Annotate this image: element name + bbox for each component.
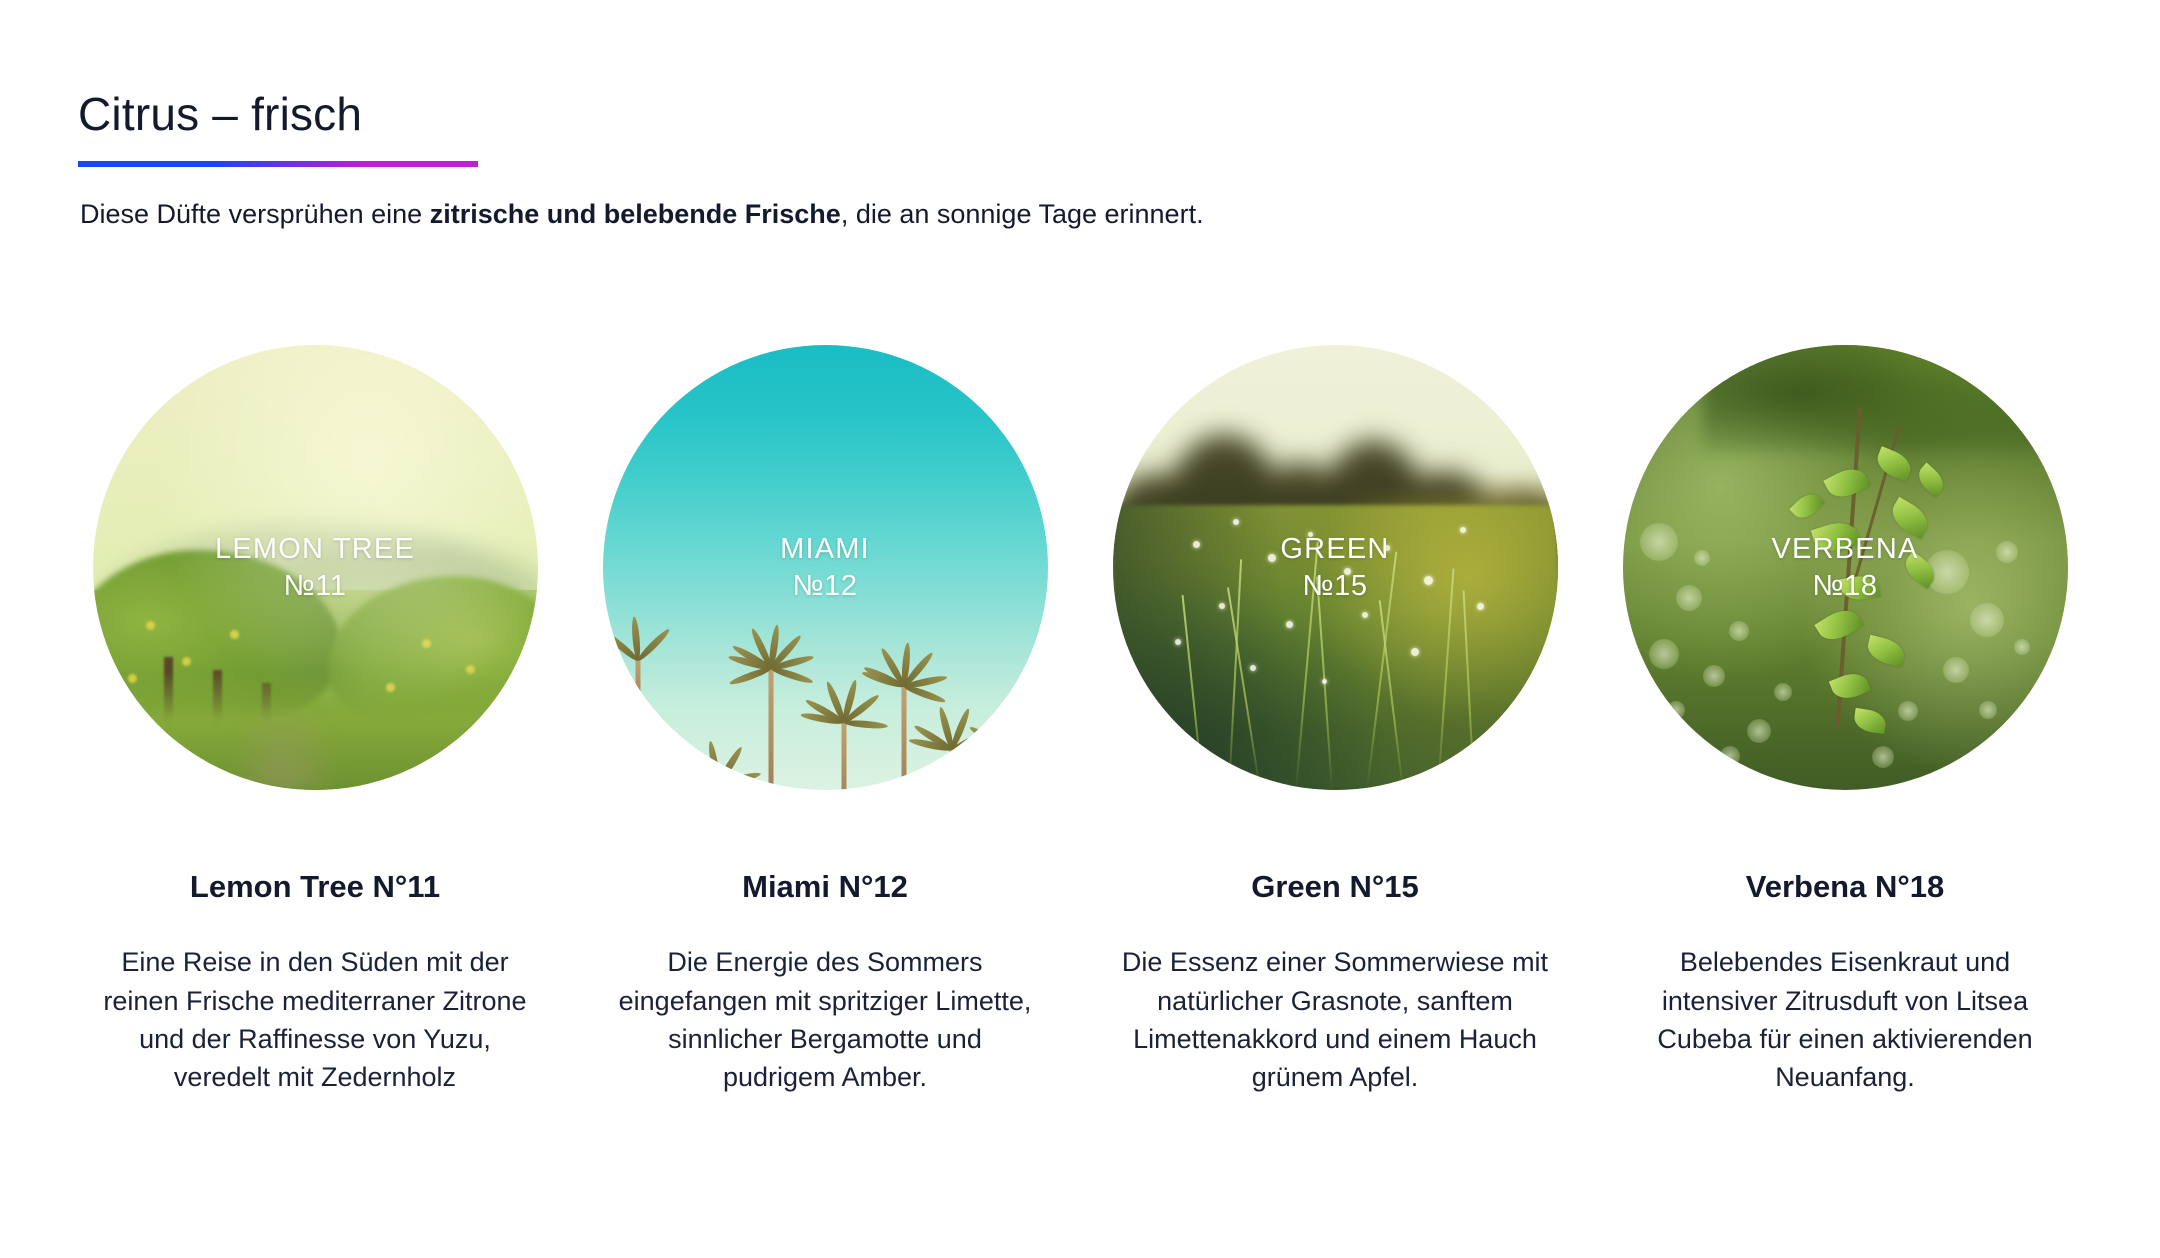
subtitle-text-bold: zitrische und belebende Frische: [430, 199, 841, 229]
product-name-miami: Miami N°12: [742, 868, 908, 905]
page-subtitle: Diese Düfte versprühen eine zitrische un…: [80, 196, 1204, 234]
overlay-number: №12: [603, 568, 1048, 605]
subtitle-text-after: , die an sonnige Tage erinnert.: [841, 199, 1204, 229]
product-description-green: Die Essenz einer Sommerwiese mit natürli…: [1120, 943, 1550, 1096]
product-description-verbena: Belebendes Eisenkraut und intensiver Zit…: [1630, 943, 2060, 1096]
product-name-verbena: Verbena N°18: [1746, 868, 1945, 905]
overlay-name: MIAMI: [780, 532, 870, 564]
product-name-green: Green N°15: [1251, 868, 1418, 905]
fragrance-card-lemon-tree[interactable]: LEMON TREE №11 Lemon Tree N°11 Eine Reis…: [60, 345, 570, 1097]
fragrance-card-green[interactable]: GREEN №15 Green N°15 Die Essenz einer So…: [1080, 345, 1590, 1097]
overlay-name: LEMON TREE: [215, 532, 415, 564]
overlay-number: №11: [93, 568, 538, 605]
page-header: Citrus – frisch: [78, 88, 478, 167]
title-gradient-rule: [78, 161, 478, 167]
subtitle-text-before: Diese Düfte versprühen eine: [80, 199, 430, 229]
fragrance-category-page: Citrus – frisch Diese Düfte versprühen e…: [0, 0, 2160, 1258]
product-name-lemon-tree: Lemon Tree N°11: [190, 868, 440, 905]
fragrance-image-green[interactable]: GREEN №15: [1113, 345, 1558, 790]
overlay-name: VERBENA: [1772, 532, 1919, 564]
fragrance-overlay-label-verbena: VERBENA №18: [1623, 530, 2068, 604]
product-description-miami: Die Energie des Sommers eingefangen mit …: [610, 943, 1040, 1096]
fragrance-image-verbena[interactable]: VERBENA №18: [1623, 345, 2068, 790]
fragrance-overlay-label-lemon-tree: LEMON TREE №11: [93, 530, 538, 604]
overlay-name: GREEN: [1280, 532, 1389, 564]
fragrance-card-row: LEMON TREE №11 Lemon Tree N°11 Eine Reis…: [60, 345, 2100, 1097]
fragrance-image-miami[interactable]: MIAMI №12: [603, 345, 1048, 790]
page-title: Citrus – frisch: [78, 88, 478, 141]
fragrance-card-verbena[interactable]: VERBENA №18 Verbena N°18 Belebendes Eise…: [1590, 345, 2100, 1097]
overlay-number: №15: [1113, 568, 1558, 605]
overlay-number: №18: [1623, 568, 2068, 605]
product-description-lemon-tree: Eine Reise in den Süden mit der reinen F…: [100, 943, 530, 1096]
fragrance-overlay-label-miami: MIAMI №12: [603, 530, 1048, 604]
fragrance-overlay-label-green: GREEN №15: [1113, 530, 1558, 604]
fragrance-card-miami[interactable]: MIAMI №12 Miami N°12 Die Energie des Som…: [570, 345, 1080, 1097]
fragrance-image-lemon-tree[interactable]: LEMON TREE №11: [93, 345, 538, 790]
